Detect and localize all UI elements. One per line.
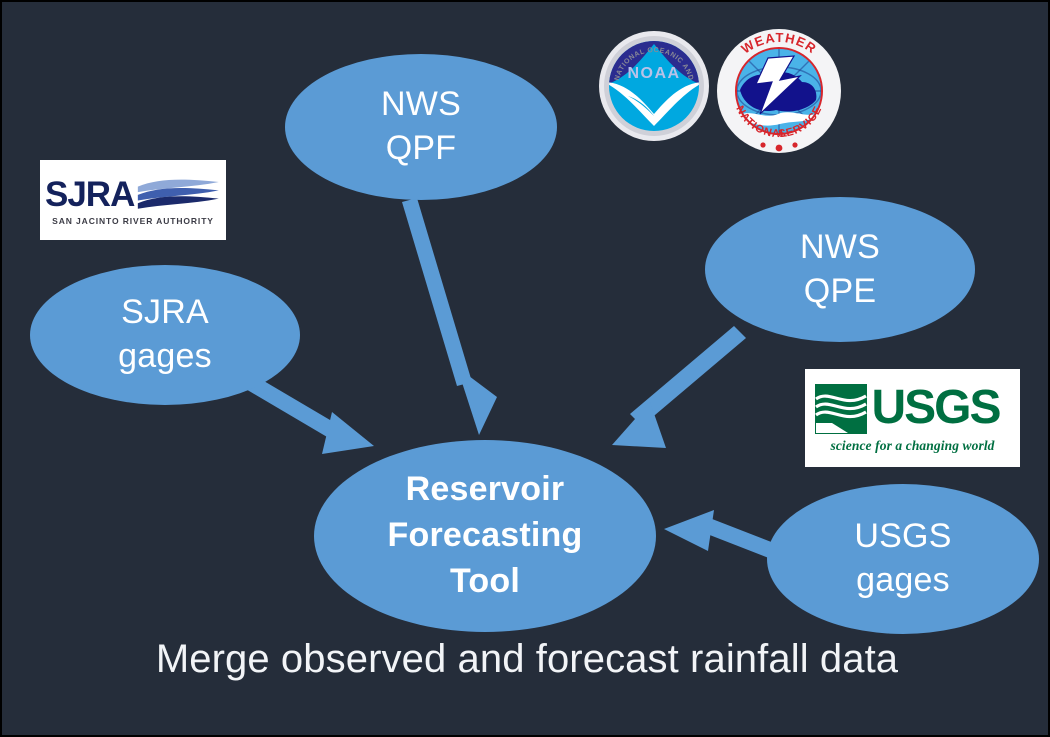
node-tool-line-2: Forecasting: [388, 513, 583, 559]
node-usgs-gages-line-1: USGS: [854, 515, 951, 559]
node-nws-qpe-line-1: NWS: [800, 226, 880, 270]
node-nws-qpf[interactable]: NWS QPF: [285, 54, 557, 200]
node-tool-line-1: Reservoir: [406, 467, 565, 513]
caption-text: Merge observed and forecast rainfall dat…: [2, 637, 1050, 682]
sjra-waves-icon: [136, 174, 221, 214]
node-sjra-gages[interactable]: SJRA gages: [30, 265, 300, 405]
usgs-tagline: science for a changing world: [814, 438, 1012, 454]
arrow-nws-qpe-to-tool: [612, 326, 746, 448]
node-sjra-gages-line-1: SJRA: [121, 291, 209, 335]
node-nws-qpf-line-2: QPF: [386, 127, 457, 171]
node-usgs-gages[interactable]: USGS gages: [767, 484, 1039, 634]
national-weather-service-logo: WEATHER NATIONAL SERVICE: [716, 28, 842, 154]
node-nws-qpf-line-1: NWS: [381, 83, 461, 127]
arrow-nws-qpf-to-tool: [402, 198, 497, 435]
node-nws-qpe-line-2: QPE: [804, 270, 876, 314]
noaa-logo: NATIONAL OCEANIC AND NOAA: [598, 30, 710, 142]
node-nws-qpe[interactable]: NWS QPE: [705, 197, 975, 342]
sjra-wordmark: SJRA: [45, 177, 134, 212]
usgs-mark-icon: [814, 383, 868, 435]
arrow-usgs-gages-to-tool: [664, 510, 779, 560]
node-reservoir-forecasting-tool[interactable]: Reservoir Forecasting Tool: [314, 440, 656, 632]
sjra-logo: SJRA SAN JACINTO RIVER AUTHORITY: [40, 160, 226, 240]
node-sjra-gages-line-2: gages: [118, 335, 212, 379]
noaa-wordmark: NOAA: [627, 65, 680, 82]
sjra-subtitle: SAN JACINTO RIVER AUTHORITY: [45, 216, 221, 226]
usgs-wordmark: USGS: [872, 386, 1000, 430]
arrow-sjra-gages-to-tool: [244, 374, 374, 454]
diagram-slide: NWS QPF NWS QPE SJRA gages USGS gages Re…: [0, 0, 1050, 737]
node-tool-line-3: Tool: [450, 559, 520, 605]
node-usgs-gages-line-2: gages: [856, 559, 950, 603]
usgs-logo: USGS science for a changing world: [805, 369, 1020, 467]
